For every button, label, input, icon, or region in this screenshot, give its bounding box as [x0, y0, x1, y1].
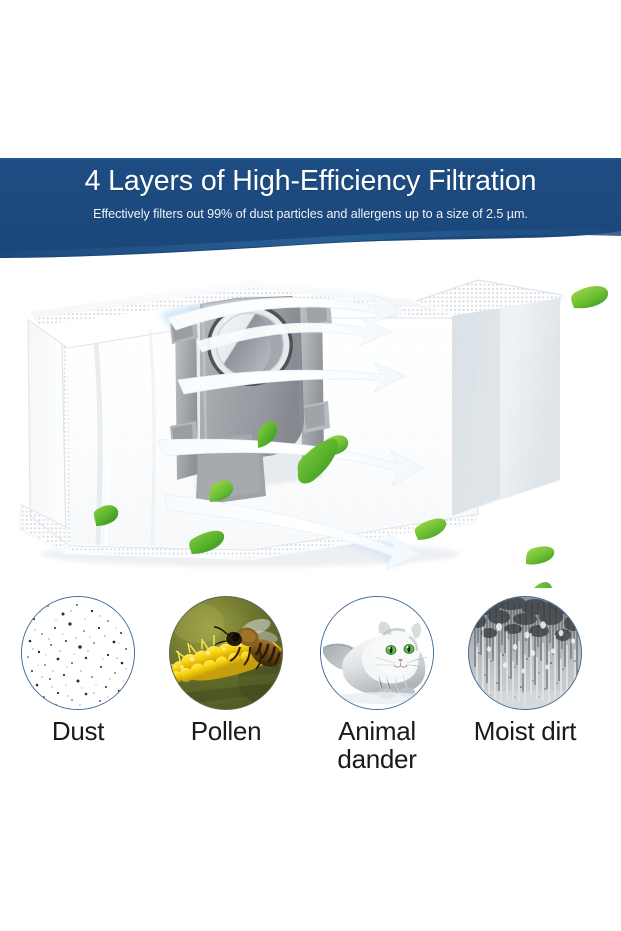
pollen-label: Pollen: [191, 717, 261, 745]
wet-dirt-texture-photo: [469, 597, 582, 710]
leaf-float-1: [526, 546, 554, 564]
moist-dirt-label: Moist dirt: [474, 717, 576, 745]
hero-graphic: [0, 258, 621, 588]
animal-dander-label: Animal dander: [302, 717, 452, 773]
banner-text-block: 4 Layers of High-Efficiency Filtration E…: [0, 158, 621, 244]
filter-target-dust: Dust: [3, 596, 153, 745]
leaf-top-right-1: [571, 286, 608, 308]
product-infographic: 4 Layers of High-Efficiency Filtration E…: [0, 0, 621, 931]
bee-on-goldenrod-photo: [170, 597, 283, 710]
dust-label: Dust: [52, 717, 104, 745]
dust-icon: [21, 596, 135, 710]
filter-target-pollen: Pollen: [151, 596, 301, 745]
hero-product-illustration: [0, 258, 621, 588]
dust-particles-texture: [22, 597, 135, 710]
filter-target-animal-dander: Animal dander: [302, 596, 452, 773]
filter-target-moist-dirt: Moist dirt: [450, 596, 600, 745]
moist-dirt-icon: [468, 596, 582, 710]
header-banner: 4 Layers of High-Efficiency Filtration E…: [0, 158, 621, 258]
leaf-float-2: [530, 582, 552, 588]
fluffy-grey-cat-photo: [321, 597, 434, 710]
page-title: 4 Layers of High-Efficiency Filtration: [85, 165, 537, 198]
page-subtitle: Effectively filters out 99% of dust part…: [93, 207, 528, 221]
animal-dander-icon: [320, 596, 434, 710]
filter-targets-row: Dust: [0, 596, 621, 786]
pollen-icon: [169, 596, 283, 710]
